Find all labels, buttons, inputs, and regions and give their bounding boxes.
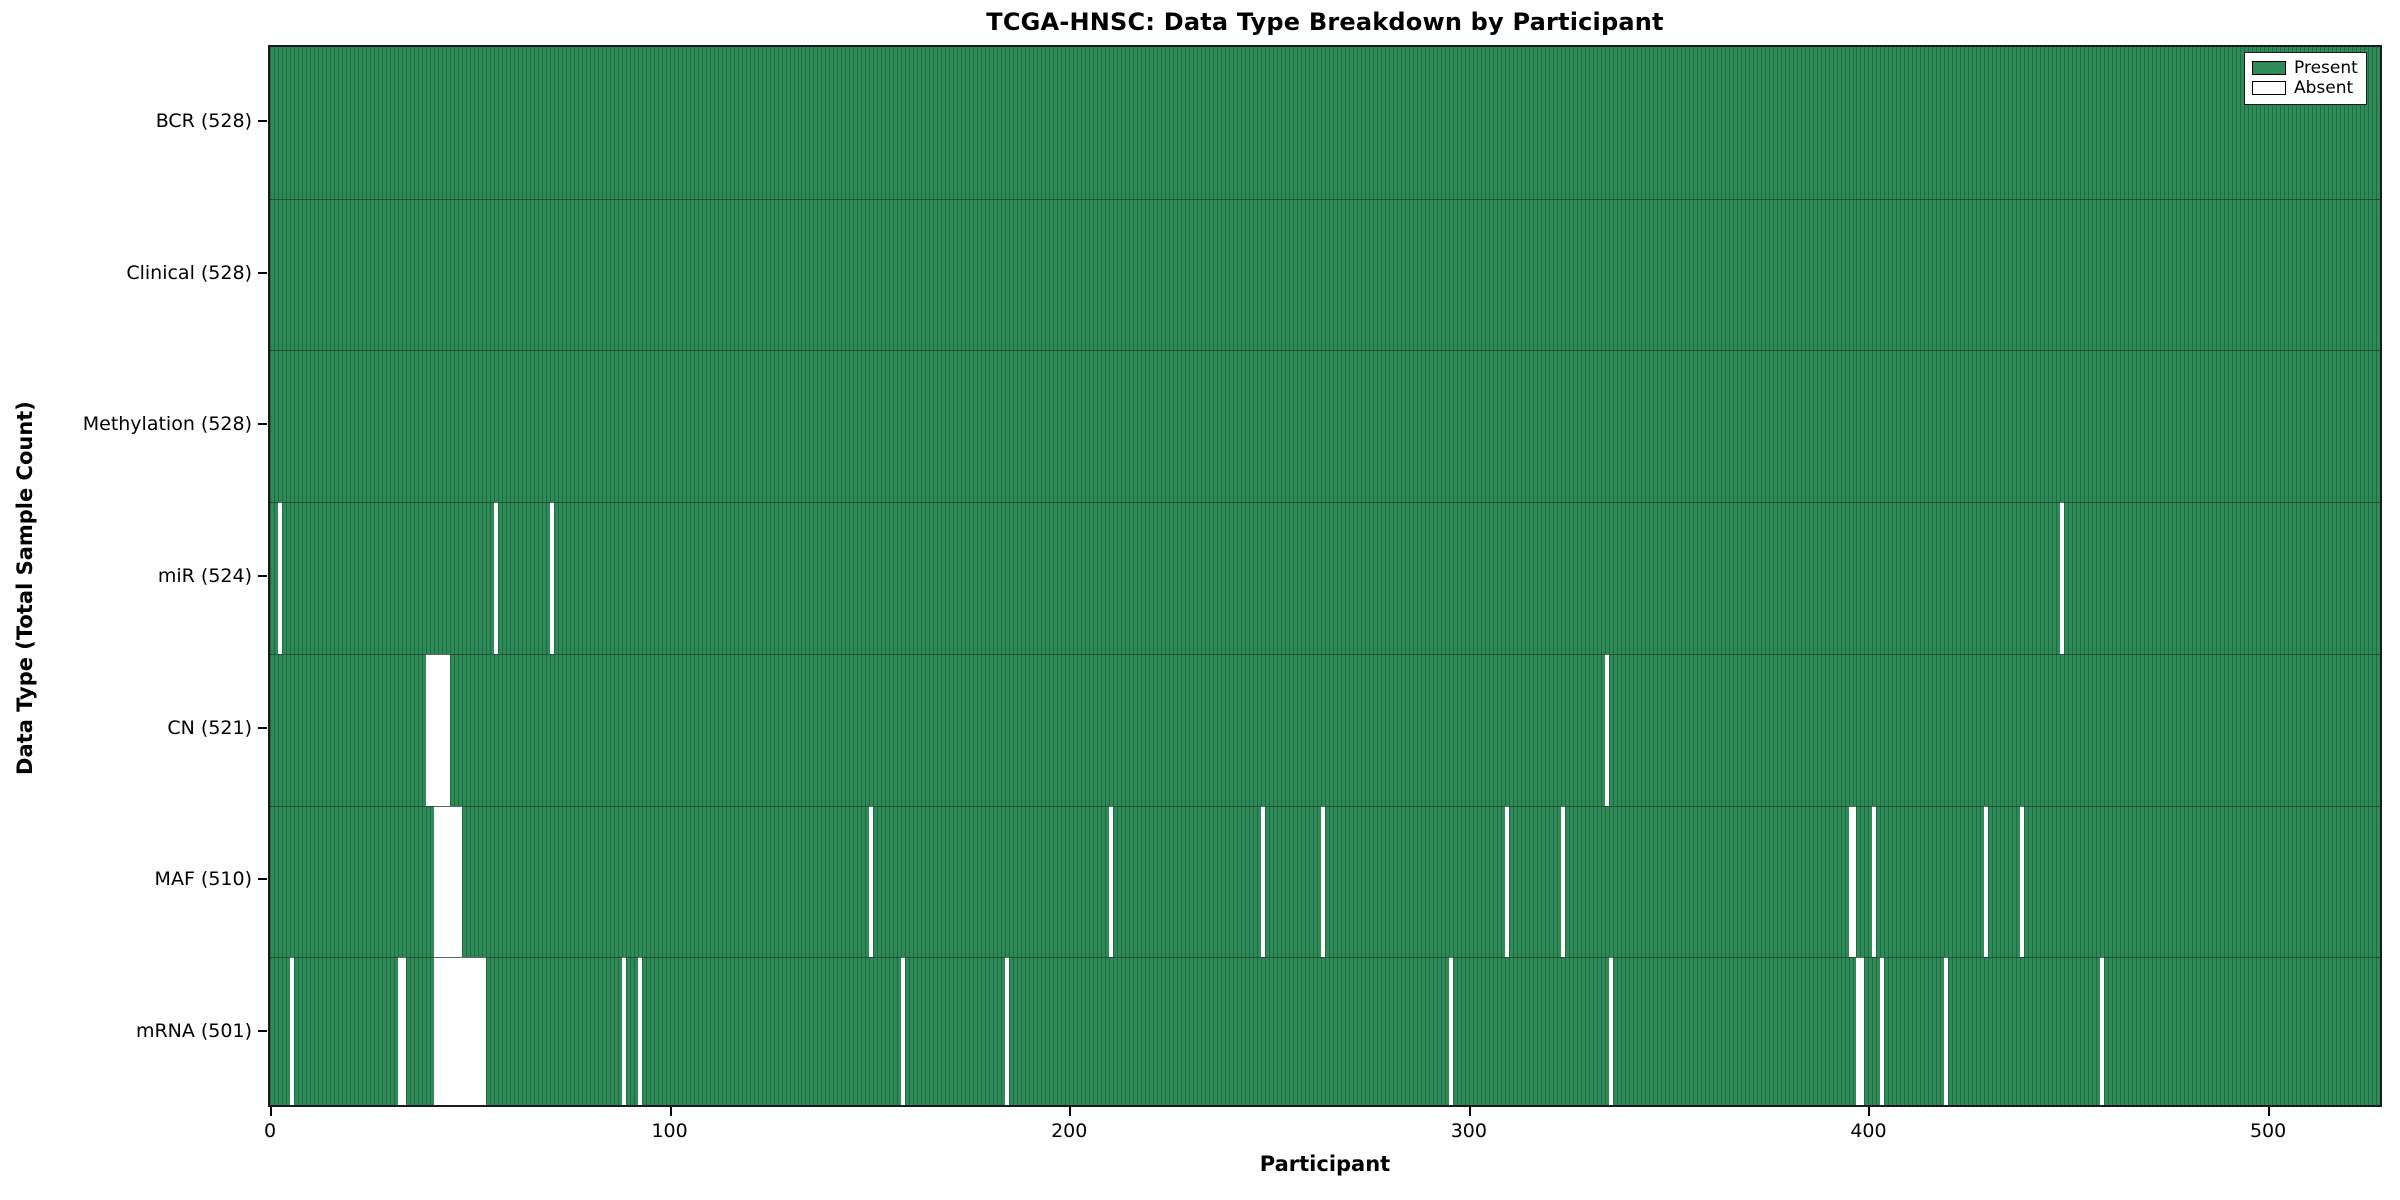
heatmap-cell: [2380, 502, 2382, 654]
y-tick-mark: [258, 272, 267, 274]
x-tick-label-0: 0: [225, 1120, 315, 1142]
x-tick-mark: [670, 1107, 672, 1116]
legend-entry-absent[interactable]: Absent: [2252, 78, 2358, 98]
x-tick-mark: [270, 1107, 272, 1116]
heatmap-row-maf: [270, 806, 2380, 958]
y-axis-label: Data Type (Total Sample Count): [13, 308, 37, 868]
heatmap-row-cn: [270, 654, 2380, 806]
y-tick-label-maf: MAF (510): [0, 868, 252, 890]
y-tick-label-mir: miR (524): [0, 565, 252, 587]
heatmap-row-clinical: [270, 199, 2380, 351]
y-tick-mark: [258, 878, 267, 880]
x-tick-label-400: 400: [1823, 1120, 1913, 1142]
legend-entry-present[interactable]: Present: [2252, 58, 2358, 78]
row-separator: [270, 199, 2380, 200]
y-tick-label-bcr: BCR (528): [0, 110, 252, 132]
row-separator: [270, 957, 2380, 958]
heatmap-plot-area[interactable]: [268, 45, 2382, 1107]
y-tick-mark: [258, 423, 267, 425]
row-separator: [270, 502, 2380, 503]
x-tick-label-300: 300: [1424, 1120, 1514, 1142]
heatmap-cells: [270, 47, 2380, 1105]
heatmap-cell: [2380, 47, 2382, 199]
y-tick-mark: [258, 120, 267, 122]
legend-swatch-absent: [2252, 81, 2286, 95]
y-tick-label-mrna: mRNA (501): [0, 1020, 252, 1042]
legend-label-absent: Absent: [2294, 78, 2353, 98]
y-tick-label-methylation: Methylation (528): [0, 413, 252, 435]
chart-title: TCGA-HNSC: Data Type Breakdown by Partic…: [268, 8, 2382, 36]
x-tick-mark: [1868, 1107, 1870, 1116]
x-tick-label-100: 100: [625, 1120, 715, 1142]
x-tick-mark: [2268, 1107, 2270, 1116]
y-tick-label-clinical: Clinical (528): [0, 262, 252, 284]
heatmap-cell: [2380, 350, 2382, 502]
heatmap-row-mir: [270, 502, 2380, 654]
row-separator: [270, 806, 2380, 807]
heatmap-cell: [2380, 199, 2382, 351]
x-tick-mark: [1469, 1107, 1471, 1116]
y-tick-label-cn: CN (521): [0, 717, 252, 739]
legend-label-present: Present: [2294, 58, 2358, 78]
y-tick-mark: [258, 727, 267, 729]
legend-swatch-present: [2252, 61, 2286, 75]
heatmap-row-mrna: [270, 957, 2380, 1107]
heatmap-row-methylation: [270, 350, 2380, 502]
y-tick-mark: [258, 1030, 267, 1032]
x-tick-label-200: 200: [1024, 1120, 1114, 1142]
legend-box[interactable]: PresentAbsent: [2244, 52, 2367, 105]
heatmap-cell: [2380, 806, 2382, 958]
row-separator: [270, 350, 2380, 351]
heatmap-cell: [2380, 957, 2382, 1107]
y-tick-mark: [258, 575, 267, 577]
figure-canvas: TCGA-HNSC: Data Type Breakdown by Partic…: [0, 0, 2400, 1200]
heatmap-cell: [2380, 654, 2382, 806]
row-separator: [270, 654, 2380, 655]
x-tick-label-500: 500: [2223, 1120, 2313, 1142]
x-tick-mark: [1069, 1107, 1071, 1116]
x-axis-label: Participant: [268, 1152, 2382, 1176]
heatmap-row-bcr: [270, 47, 2380, 199]
